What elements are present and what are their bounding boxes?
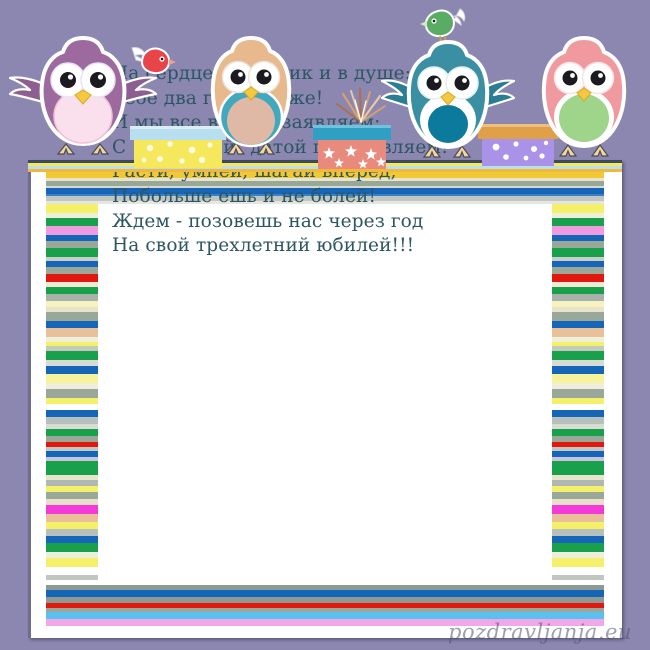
stripe — [552, 204, 604, 213]
stripe — [46, 567, 98, 575]
stripe — [46, 461, 98, 475]
border-stripes-right — [552, 204, 604, 596]
stripe — [46, 241, 98, 248]
stripe — [552, 374, 604, 383]
stripe — [552, 218, 604, 226]
poem-line: Ждем - позовешь нас через год — [112, 210, 532, 235]
stripe — [552, 522, 604, 529]
border-stripes-left — [46, 204, 98, 596]
stripe — [46, 492, 98, 499]
stripe — [46, 612, 604, 619]
stripe — [552, 514, 604, 522]
stripe — [552, 351, 604, 360]
stripe — [46, 218, 98, 226]
paper-area — [98, 204, 552, 580]
stripe — [46, 417, 98, 424]
stripe — [46, 429, 98, 436]
border-stripes-bottom — [46, 580, 604, 626]
stripe — [46, 529, 98, 536]
stripe — [46, 274, 98, 282]
stripe — [552, 410, 604, 417]
stripe — [46, 294, 98, 301]
stripe — [552, 389, 604, 398]
stripe — [552, 226, 604, 235]
stripe — [46, 204, 98, 213]
stripe — [552, 492, 604, 499]
stripe — [46, 558, 98, 567]
stripe — [552, 274, 604, 282]
stripe — [552, 287, 604, 294]
stripe — [552, 366, 604, 374]
stripe — [46, 410, 98, 417]
stripe — [46, 619, 604, 626]
stripe — [46, 267, 98, 274]
stripe — [552, 429, 604, 436]
stripe — [46, 226, 98, 235]
stripe — [552, 248, 604, 257]
owl-teal — [374, 36, 522, 164]
stripe — [552, 312, 604, 321]
stripe — [46, 351, 98, 360]
stripe — [46, 543, 98, 552]
stripe — [552, 567, 604, 575]
stripe — [46, 374, 98, 383]
stripe — [552, 267, 604, 274]
stripe — [46, 321, 98, 328]
stripe — [46, 328, 98, 337]
stripe — [46, 536, 98, 543]
bird-red — [128, 42, 176, 82]
stripe — [46, 514, 98, 522]
stripe — [552, 417, 604, 424]
stripe — [46, 505, 98, 514]
owl-pink — [528, 33, 640, 163]
stripe — [46, 522, 98, 529]
stripe — [552, 536, 604, 543]
stripe — [46, 590, 604, 597]
poem-line: На свой трехлетний юбилей!!! — [112, 234, 532, 259]
stripe — [552, 529, 604, 536]
greeting-card: На сердце праздник и в душе:Тебе два год… — [0, 0, 650, 650]
stripe — [552, 543, 604, 552]
stripe — [552, 505, 604, 514]
stripe — [552, 328, 604, 337]
poem-line: Побольше ешь и не болей! — [112, 185, 532, 210]
stripe — [46, 389, 98, 398]
owl-tan — [196, 33, 306, 161]
stripe — [46, 287, 98, 294]
stripe — [552, 558, 604, 567]
stripe — [46, 248, 98, 257]
stripe — [552, 461, 604, 475]
stripe — [552, 294, 604, 301]
stripe — [46, 366, 98, 374]
stripe — [552, 321, 604, 328]
stripe — [552, 241, 604, 248]
shelf-stripe — [28, 169, 622, 172]
stripe — [46, 312, 98, 321]
